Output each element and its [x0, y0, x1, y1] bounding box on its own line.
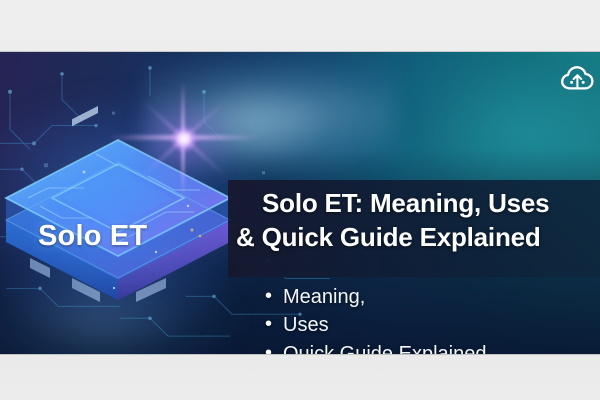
- lens-flare-decor: [182, 137, 186, 141]
- banner-title-line-2: & Quick Guide Explained: [236, 220, 600, 254]
- bullet-item: Quick Guide Explained: [263, 340, 486, 355]
- chip-label: Solo ET: [38, 220, 147, 253]
- bullet-item: Meaning,: [263, 283, 486, 311]
- cloud-upload-icon: [561, 65, 595, 92]
- flare-core: [171, 126, 197, 152]
- article-hero-banner: Solo ET Solo ET: Meaning, Uses& Quick Gu…: [0, 51, 600, 355]
- brand-logo[interactable]: C N: [561, 65, 600, 92]
- page-canvas: Solo ET Solo ET: Meaning, Uses& Quick Gu…: [0, 0, 600, 400]
- banner-title-line-1: Solo ET: Meaning, Uses: [262, 188, 549, 218]
- banner-bullet-list: Meaning, Uses Quick Guide Explained: [263, 283, 486, 355]
- bullet-item: Uses: [263, 311, 486, 339]
- banner-title: Solo ET: Meaning, Uses& Quick Guide Expl…: [262, 186, 600, 255]
